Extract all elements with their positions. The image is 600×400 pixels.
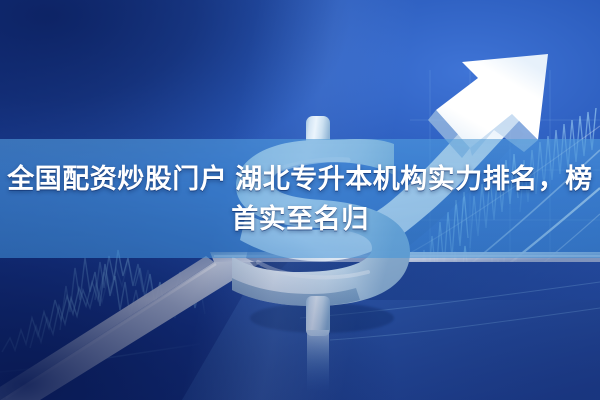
title-line-1: 全国配资炒股门户 湖北专升本机构实力排名，榜	[7, 160, 593, 198]
title-line-2: 首实至名归	[231, 200, 369, 238]
stock-banner: 全国配资炒股门户 湖北专升本机构实力排名，榜 首实至名归	[0, 0, 600, 400]
banner-title: 全国配资炒股门户 湖北专升本机构实力排名，榜 首实至名归	[0, 139, 600, 258]
